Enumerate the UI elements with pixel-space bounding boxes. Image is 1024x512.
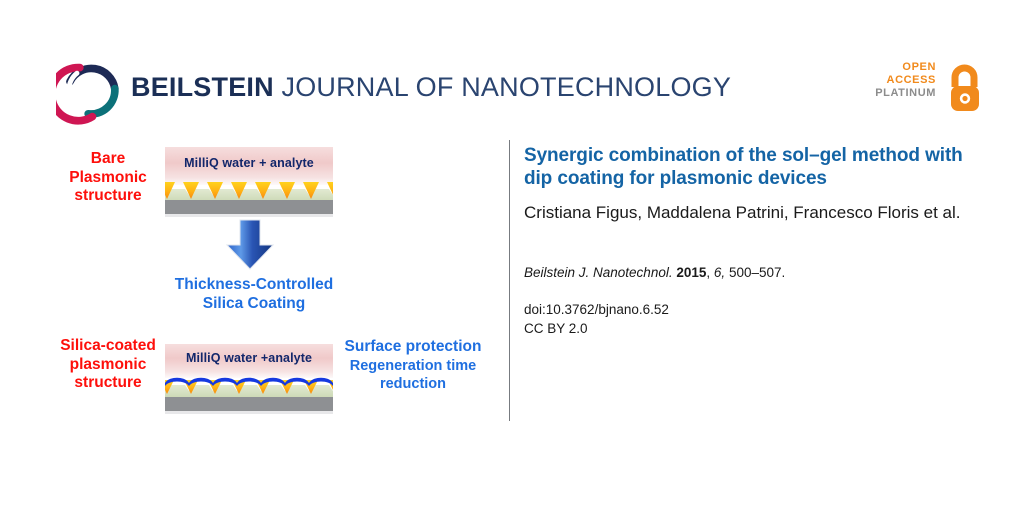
wordmark-journal-of-nanotechnology: JOURNAL OF NANOTECHNOLOGY — [274, 72, 731, 102]
label-silica-line-2: plasmonic — [44, 356, 172, 375]
oa-line-access: ACCESS — [875, 74, 936, 87]
label-bare-line-3: structure — [52, 187, 164, 206]
column-divider — [509, 140, 510, 421]
open-lock-icon — [942, 63, 988, 115]
citation-year: 2015 — [676, 265, 706, 280]
oa-line-open: OPEN — [875, 61, 936, 74]
down-arrow-icon — [222, 218, 278, 272]
arrow-caption-line-2: Silica Coating — [150, 294, 358, 313]
arrow-caption-thickness-controlled-silica-coating: Thickness-Controlled Silica Coating — [150, 275, 358, 313]
wordmark-beilstein: BEILSTEIN — [131, 72, 274, 102]
article-citation: Beilstein J. Nanotechnol. 2015, 6, 500–5… — [524, 265, 994, 280]
water-layer-bottom: MilliQ water +analyte — [165, 344, 333, 378]
label-bare-line-2: Plasmonic — [52, 169, 164, 188]
citation-pages: 500–507. — [729, 265, 785, 280]
graphical-abstract: Bare Plasmonic structure Silica-coated p… — [0, 130, 505, 430]
label-surface-protection: Surface protection Regeneration time red… — [333, 338, 493, 394]
journal-wordmark: BEILSTEIN JOURNAL OF NANOTECHNOLOGY — [131, 72, 731, 103]
beilstein-circular-swirl-logo — [56, 55, 126, 125]
label-bare-line-1: Bare — [52, 150, 164, 169]
label-silica-line-1: Silica-coated — [44, 337, 172, 356]
surface-label-line-2: Regeneration time — [333, 357, 493, 376]
diagram-panel-bare-structure: MilliQ water + analyte — [165, 147, 333, 214]
surface-label-line-1: Surface protection — [333, 338, 493, 357]
water-label-top: MilliQ water + analyte — [165, 156, 333, 170]
article-authors: Cristiana Figus, Maddalena Patrini, Fran… — [524, 202, 994, 224]
citation-journal: Beilstein J. Nanotechnol. — [524, 265, 673, 280]
surface-label-line-3: reduction — [333, 375, 493, 394]
open-access-text: OPEN ACCESS PLATINUM — [875, 61, 936, 100]
open-access-badge: OPEN ACCESS PLATINUM — [878, 61, 988, 117]
water-layer-top: MilliQ water + analyte — [165, 147, 333, 185]
substrate-layer-top — [165, 200, 333, 214]
panel-base-bottom — [165, 411, 333, 414]
arrow-caption-line-1: Thickness-Controlled — [150, 275, 358, 294]
article-license[interactable]: CC BY 2.0 — [524, 321, 994, 336]
panel-base-top — [165, 214, 333, 217]
water-label-bottom: MilliQ water +analyte — [165, 351, 333, 365]
label-silica-coated-plasmonic-structure: Silica-coated plasmonic structure — [44, 337, 172, 393]
diagram-panel-silica-coated-structure: MilliQ water +analyte — [165, 344, 333, 411]
article-title[interactable]: Synergic combination of the sol–gel meth… — [524, 144, 994, 190]
article-doi[interactable]: doi:10.3762/bjnano.6.52 — [524, 302, 994, 317]
citation-volume: 6, — [714, 265, 725, 280]
article-info: Synergic combination of the sol–gel meth… — [524, 144, 994, 336]
label-silica-line-3: structure — [44, 374, 172, 393]
oa-line-platinum: PLATINUM — [875, 87, 936, 100]
substrate-layer-bottom — [165, 397, 333, 411]
page-header: BEILSTEIN JOURNAL OF NANOTECHNOLOGY OPEN… — [0, 0, 1024, 130]
plasmonic-grating-bottom — [165, 375, 333, 399]
label-bare-plasmonic-structure: Bare Plasmonic structure — [52, 150, 164, 206]
